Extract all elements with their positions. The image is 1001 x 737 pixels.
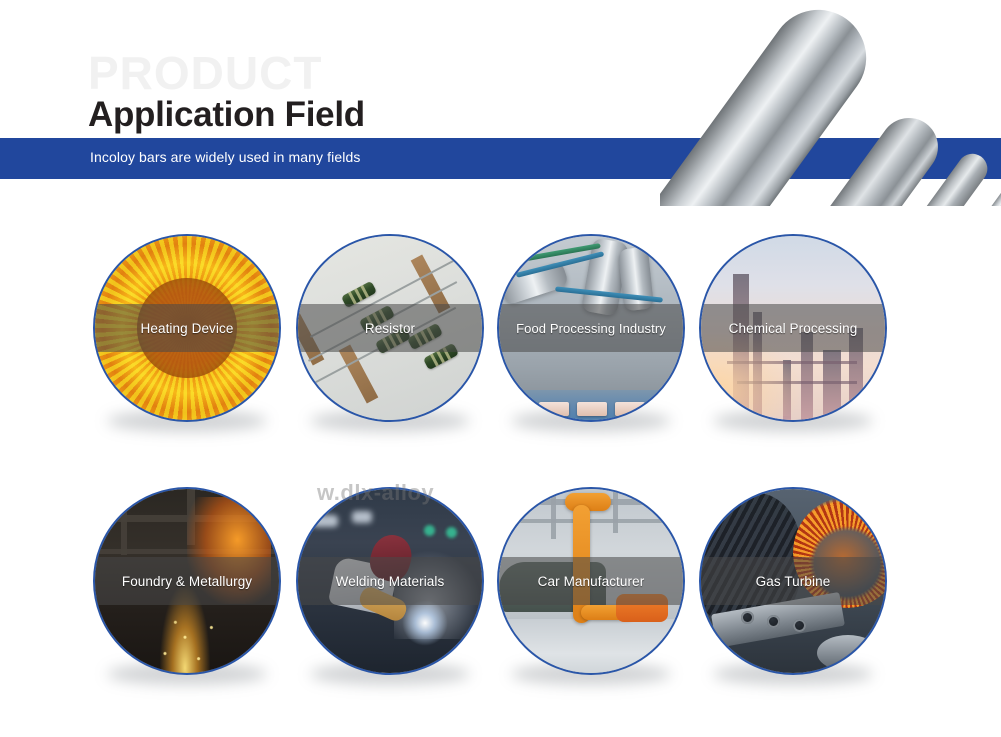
card-label-band: Chemical Processing [701, 304, 885, 352]
card-label-band: Food Processing Industry [499, 304, 683, 352]
turbine-casing [817, 635, 879, 671]
card-label: Gas Turbine [754, 574, 833, 589]
card-circle[interactable]: Food Processing Industry [497, 234, 685, 422]
card-circle[interactable]: Resistor [296, 234, 484, 422]
card-label: Car Manufacturer [536, 574, 647, 589]
rail-post [613, 487, 618, 533]
application-card[interactable]: Car Manufacturer [497, 487, 685, 675]
card-label: Heating Device [139, 321, 236, 336]
food-package [577, 402, 607, 416]
background-light [424, 525, 435, 536]
machine-cylinder [618, 247, 654, 312]
background-light [312, 515, 338, 527]
bolt-hole [741, 611, 754, 624]
application-card[interactable]: Welding Materials [296, 487, 484, 675]
card-label-band: Car Manufacturer [499, 557, 683, 605]
card-label: Welding Materials [334, 574, 447, 589]
application-card[interactable]: Food Processing Industry [497, 234, 685, 422]
card-circle[interactable]: Welding Materials [296, 487, 484, 675]
tape-strip [339, 344, 379, 403]
sparks [149, 608, 230, 673]
card-label-band: Gas Turbine [701, 557, 885, 605]
card-label-band: Welding Materials [298, 557, 482, 605]
factory-floor [497, 619, 685, 675]
application-card[interactable]: Resistor [296, 234, 484, 422]
food-package [615, 402, 645, 416]
card-label: Chemical Processing [727, 321, 860, 336]
card-circle[interactable]: Heating Device [93, 234, 281, 422]
card-label: Foundry & Metallurgy [120, 574, 254, 589]
background-light [352, 511, 372, 523]
card-circle[interactable]: Foundry & Metallurgy [93, 487, 281, 675]
card-label-band: Heating Device [95, 304, 279, 352]
mill-column [121, 487, 127, 555]
welding-arc [402, 600, 448, 646]
application-field-slide: PRODUCT Application Field Incoloy bars a… [0, 0, 1001, 737]
card-label: Food Processing Industry [514, 321, 668, 336]
rail-post [551, 487, 556, 539]
site-watermark: w.dlx-alloy [317, 480, 434, 506]
card-label: Resistor [363, 321, 417, 336]
application-card[interactable]: Foundry & Metallurgy [93, 487, 281, 675]
overhead-rail [497, 519, 685, 523]
card-label-band: Foundry & Metallurgy [95, 557, 279, 605]
card-circle[interactable]: Chemical Processing [699, 234, 887, 422]
application-card[interactable]: Heating Device [93, 234, 281, 422]
card-circle[interactable]: Car Manufacturer [497, 487, 685, 675]
application-card-grid: Heating Device [0, 0, 1001, 737]
card-label-band: Resistor [298, 304, 482, 352]
food-package [539, 402, 569, 416]
bolt-hole [793, 619, 806, 632]
card-circle[interactable]: Gas Turbine [699, 487, 887, 675]
background-light [446, 527, 457, 538]
application-card[interactable]: Gas Turbine [699, 487, 887, 675]
application-card[interactable]: Chemical Processing [699, 234, 887, 422]
bolt-hole [767, 615, 780, 628]
